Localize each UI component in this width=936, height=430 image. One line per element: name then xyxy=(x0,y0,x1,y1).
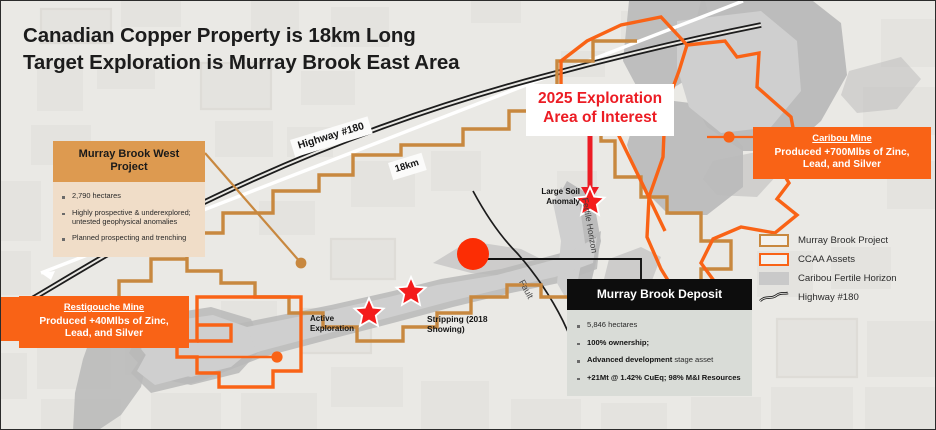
fertile-horizon-swatch-icon xyxy=(759,272,789,285)
murray-brook-project-swatch-icon xyxy=(759,234,789,247)
map-label-stripping: Stripping (2018 Showing) xyxy=(427,314,517,334)
ccaa-assets-swatch-icon xyxy=(759,253,789,266)
murray-brook-west-callout: Murray Brook West Project 2,790 hectares… xyxy=(53,141,205,257)
map-infographic: Canadian Copper Property is 18km Long Ta… xyxy=(0,0,936,430)
title-line-2: Target Exploration is Murray Brook East … xyxy=(23,50,583,77)
highway-swatch-icon xyxy=(759,291,789,304)
list-item: Advanced development stage asset xyxy=(575,355,742,364)
restigouche-mine-body: Produced +40Mlbs of Zinc, Lead, and Silv… xyxy=(25,316,183,342)
legend-item-murray-brook-project: Murray Brook Project xyxy=(759,231,931,250)
legend-item-highway: Highway #180 xyxy=(759,288,931,307)
bullet-strong: Advanced development xyxy=(587,355,672,364)
legend-label: Highway #180 xyxy=(798,292,859,303)
murray-brook-deposit-callout: Murray Brook Deposit 5,846 hectares 100%… xyxy=(567,279,752,396)
list-item: Highly prospective & underexplored; unte… xyxy=(60,208,196,227)
caribou-mine-header: Caribou Mine xyxy=(760,132,924,145)
legend-label: Caribou Fertile Horizon xyxy=(798,273,897,284)
murray-brook-west-header: Murray Brook West Project xyxy=(53,141,205,182)
star-icon-stripping xyxy=(396,277,425,305)
legend: Murray Brook Project CCAA Assets Caribou… xyxy=(759,231,931,307)
restigouche-mine-header: Restigouche Mine xyxy=(25,301,183,314)
murray-brook-deposit-body: 5,846 hectares 100% ownership; Advanced … xyxy=(567,310,752,396)
bullet-text: stage asset xyxy=(672,355,713,364)
map-label-active-exploration: Active Exploration xyxy=(310,314,368,333)
exploration-2025-line-1: 2025 Exploration xyxy=(538,90,662,109)
murray-brook-west-body: 2,790 hectares Highly prospective & unde… xyxy=(53,182,205,257)
exploration-2025-callout: 2025 Exploration Area of Interest xyxy=(526,84,674,136)
bullet-text: 5,846 hectares xyxy=(587,320,637,329)
legend-label: Murray Brook Project xyxy=(798,235,888,246)
caribou-mine-callout: Caribou Mine Produced +700Mlbs of Zinc, … xyxy=(753,127,931,179)
murray-brook-deposit-header: Murray Brook Deposit xyxy=(567,279,752,310)
legend-item-fertile-horizon: Caribou Fertile Horizon xyxy=(759,269,931,288)
caribou-mine-body: Produced +700Mlbs of Zinc, Lead, and Sil… xyxy=(760,147,924,173)
exploration-2025-line-2: Area of Interest xyxy=(538,109,662,128)
bullet-strong: +21Mt @ 1.42% CuEq; 98% M&I Resources xyxy=(587,373,741,382)
list-item: 5,846 hectares xyxy=(575,320,742,329)
map-label-large-soil-anomaly: Large Soil Anomaly xyxy=(532,187,580,206)
legend-item-ccaa-assets: CCAA Assets xyxy=(759,250,931,269)
page-title: Canadian Copper Property is 18km Long Ta… xyxy=(23,23,583,76)
list-item: 2,790 hectares xyxy=(60,191,196,200)
list-item: Planned prospecting and trenching xyxy=(60,233,196,242)
murray-brook-deposit-marker xyxy=(457,238,489,270)
bullet-strong: 100% ownership; xyxy=(587,338,649,347)
restigouche-mine-callout: Restigouche Mine Produced +40Mlbs of Zin… xyxy=(19,296,189,348)
list-item: +21Mt @ 1.42% CuEq; 98% M&I Resources xyxy=(575,373,742,382)
title-line-1: Canadian Copper Property is 18km Long xyxy=(23,23,583,50)
legend-label: CCAA Assets xyxy=(798,254,855,265)
list-item: 100% ownership; xyxy=(575,338,742,347)
